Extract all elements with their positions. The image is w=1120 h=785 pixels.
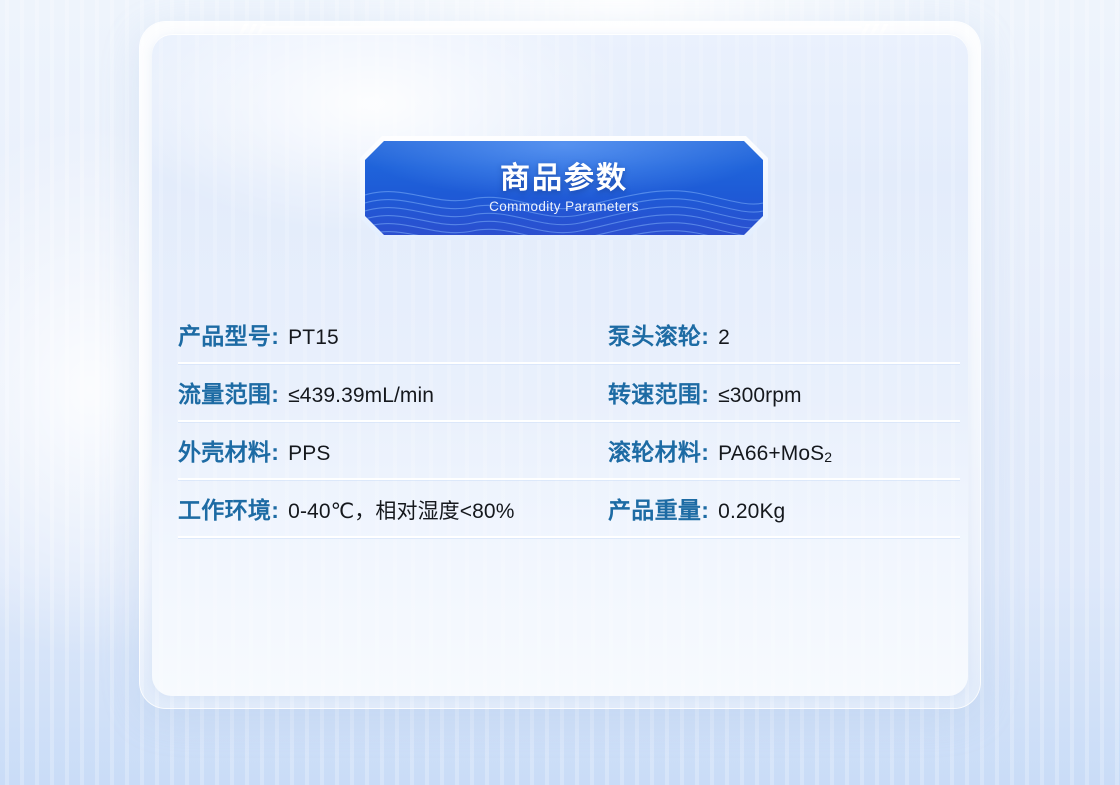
param-value: PT15 <box>288 326 339 350</box>
param-cell-roller-material: 滚轮材料: PA66+MoS2 <box>608 433 960 467</box>
param-cell-working-environment: 工作环境: 0-40℃，相对湿度<80% <box>178 491 608 525</box>
param-label: 流量范围: <box>178 375 279 409</box>
table-row: 工作环境: 0-40℃，相对湿度<80% 产品重量: 0.20Kg <box>178 480 960 538</box>
banner-text-block: 商品参数 Commodity Parameters <box>365 141 763 235</box>
param-cell-model: 产品型号: PT15 <box>178 317 608 351</box>
param-value-main: PA66+MoS <box>718 442 824 465</box>
param-cell-flow-range: 流量范围: ≤439.39mL/min <box>178 375 608 409</box>
param-value: 2 <box>718 326 730 350</box>
param-label: 转速范围: <box>608 375 709 409</box>
section-banner: 商品参数 Commodity Parameters <box>360 136 768 240</box>
param-value: PPS <box>288 442 330 466</box>
param-value-subscript: 2 <box>824 449 832 465</box>
param-label: 泵头滚轮: <box>608 317 709 351</box>
param-cell-speed-range: 转速范围: ≤300rpm <box>608 375 960 409</box>
table-row: 流量范围: ≤439.39mL/min 转速范围: ≤300rpm <box>178 364 960 422</box>
param-label: 产品重量: <box>608 491 709 525</box>
param-cell-housing-material: 外壳材料: PPS <box>178 433 608 467</box>
banner-title: 商品参数 <box>500 162 628 196</box>
parameters-table: 产品型号: PT15 泵头滚轮: 2 流量范围: ≤439.39mL/min 转… <box>178 306 960 538</box>
param-cell-rollers: 泵头滚轮: 2 <box>608 317 960 351</box>
banner-inner-panel: 商品参数 Commodity Parameters <box>365 141 763 235</box>
param-value: PA66+MoS2 <box>718 442 832 466</box>
page-root: 商品参数 Commodity Parameters 产品型号: PT15 泵头滚… <box>0 0 1120 785</box>
table-row: 外壳材料: PPS 滚轮材料: PA66+MoS2 <box>178 422 960 480</box>
table-row: 产品型号: PT15 泵头滚轮: 2 <box>178 306 960 364</box>
param-cell-weight: 产品重量: 0.20Kg <box>608 491 960 525</box>
param-value: 0-40℃，相对湿度<80% <box>288 495 514 525</box>
param-value: ≤439.39mL/min <box>288 384 434 408</box>
param-label: 滚轮材料: <box>608 433 709 467</box>
param-value: ≤300rpm <box>718 384 801 408</box>
param-label: 工作环境: <box>178 491 279 525</box>
param-value: 0.20Kg <box>718 500 785 524</box>
param-label: 产品型号: <box>178 317 279 351</box>
banner-subtitle: Commodity Parameters <box>489 199 639 214</box>
param-label: 外壳材料: <box>178 433 279 467</box>
